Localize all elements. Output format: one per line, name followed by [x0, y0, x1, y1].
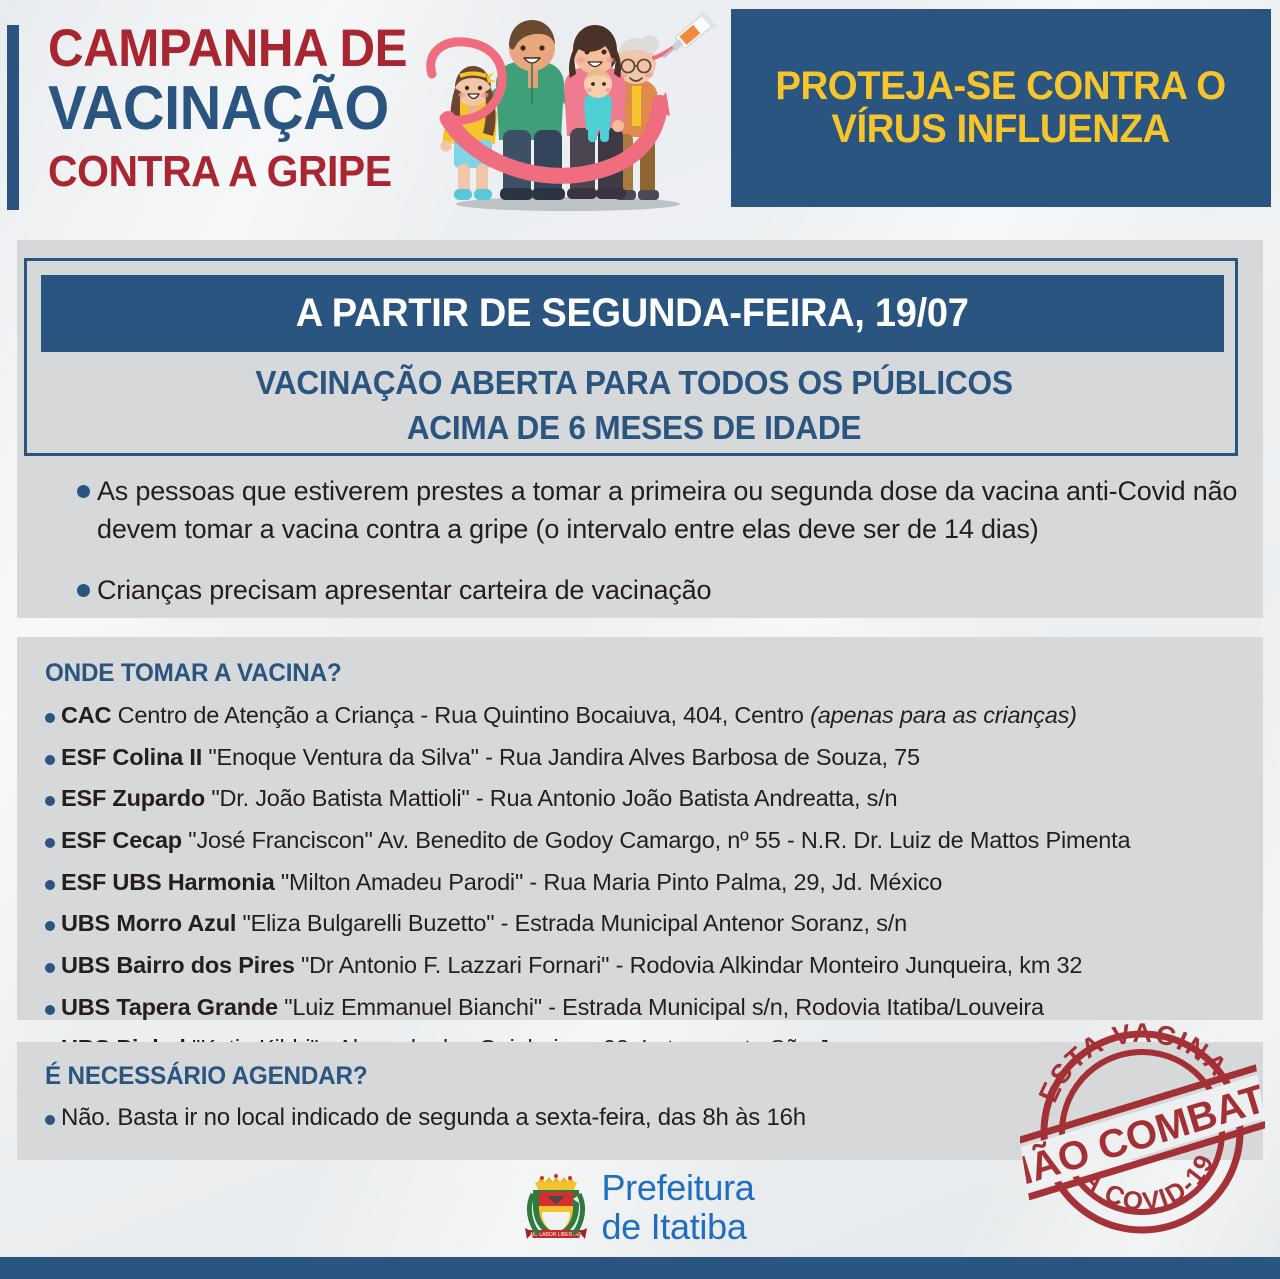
- itatiba-coat-of-arms-icon: MS LABOR LIBERTAS: [525, 1172, 587, 1244]
- list-item: Crianças precisam apresentar carteira de…: [77, 571, 1247, 609]
- location-name: ESF UBS Harmonia: [61, 869, 275, 895]
- scheduling-answer: Não. Basta ir no local indicado de segun…: [61, 1103, 806, 1133]
- bullet-dot-icon: [45, 921, 55, 931]
- bullet-dot-icon: [45, 755, 55, 765]
- list-item: CAC Centro de Atenção a Criança - Rua Qu…: [45, 701, 1235, 730]
- poster-root: CAMPANHA DE VACINAÇÃO CONTRA A GRIPE: [0, 0, 1280, 1279]
- poster-header: CAMPANHA DE VACINAÇÃO CONTRA A GRIPE: [0, 0, 1280, 228]
- locations-title: ONDE TOMAR A VACINA?: [45, 659, 1199, 688]
- bullet-dot-icon: [45, 1115, 55, 1125]
- location-detail: "Enoque Ventura da Silva" - Rua Jandira …: [202, 744, 920, 770]
- location-detail: Centro de Atenção a Criança - Rua Quinti…: [111, 702, 810, 728]
- location-text: UBS Morro Azul "Eliza Bulgarelli Buzetto…: [61, 909, 907, 938]
- header-accent-bar: [7, 25, 19, 210]
- date-subhead-line1: VACINAÇÃO ABERTA PARA TODOS OS PÚBLICOS: [51, 361, 1216, 406]
- location-detail: "Dr Antonio F. Lazzari Fornari" - Rodovi…: [295, 952, 1083, 978]
- protect-banner: PROTEJA-SE CONTRA O VÍRUS INFLUENZA: [731, 9, 1271, 207]
- list-item: ESF UBS Harmonia "Milton Amadeu Parodi" …: [45, 868, 1235, 897]
- bullet-dot-icon: [45, 838, 55, 848]
- date-panel: A PARTIR DE SEGUNDA-FEIRA, 19/07 VACINAÇ…: [17, 240, 1263, 618]
- list-item: As pessoas que estiverem prestes a tomar…: [77, 472, 1247, 549]
- locations-panel: ONDE TOMAR A VACINA? CAC Centro de Atenç…: [17, 637, 1263, 1020]
- location-name: ESF Zupardo: [61, 785, 205, 811]
- protect-banner-line1: PROTEJA-SE CONTRA O: [776, 65, 1226, 108]
- location-name: ESF Colina II: [61, 744, 202, 770]
- family-vaccination-illustration-icon: [418, 6, 726, 222]
- bullet-dot-icon: [45, 713, 55, 723]
- location-text: CAC Centro de Atenção a Criança - Rua Qu…: [61, 701, 1077, 730]
- location-name: UBS Morro Azul: [61, 910, 236, 936]
- location-text: UBS Bairro dos Pires "Dr Antonio F. Lazz…: [61, 951, 1082, 980]
- bullet-dot-icon: [77, 485, 90, 498]
- list-item: ESF Cecap "José Franciscon" Av. Benedito…: [45, 826, 1235, 855]
- list-item: UBS Morro Azul "Eliza Bulgarelli Buzetto…: [45, 909, 1235, 938]
- footer-bar: [0, 1257, 1280, 1279]
- protect-banner-line2: VÍRUS INFLUENZA: [776, 108, 1226, 151]
- location-detail: "Luiz Emmanuel Bianchi" - Estrada Munici…: [278, 994, 1044, 1020]
- scheduling-content: É NECESSÁRIO AGENDAR? Não. Basta ir no l…: [45, 1062, 806, 1133]
- location-detail: "Eliza Bulgarelli Buzetto" - Estrada Mun…: [236, 910, 907, 936]
- prefeitura-logo-text: Prefeitura de Itatiba: [601, 1169, 754, 1247]
- location-text: UBS Tapera Grande "Luiz Emmanuel Bianchi…: [61, 993, 1044, 1022]
- location-detail: "José Franciscon" Av. Benedito de Godoy …: [182, 827, 1130, 853]
- location-detail: "Milton Amadeu Parodi" - Rua Maria Pinto…: [275, 869, 943, 895]
- campaign-title-line2: VACINAÇÃO: [48, 78, 401, 140]
- list-item: ESF Zupardo "Dr. João Batista Mattioli" …: [45, 784, 1235, 813]
- list-item: UBS Bairro dos Pires "Dr Antonio F. Lazz…: [45, 951, 1235, 980]
- bullet-dot-icon: [77, 584, 90, 597]
- date-note-1: As pessoas que estiverem prestes a tomar…: [97, 472, 1247, 549]
- date-notes-list: As pessoas que estiverem prestes a tomar…: [77, 472, 1247, 609]
- campaign-title-block: CAMPANHA DE VACINAÇÃO CONTRA A GRIPE: [48, 22, 428, 194]
- prefeitura-logo-line2: de Itatiba: [601, 1208, 754, 1247]
- campaign-title-line1: CAMPANHA DE: [48, 22, 401, 75]
- date-framed-box: A PARTIR DE SEGUNDA-FEIRA, 19/07 VACINAÇ…: [24, 258, 1238, 456]
- location-text: ESF Zupardo "Dr. João Batista Mattioli" …: [61, 784, 897, 813]
- location-text: ESF Colina II "Enoque Ventura da Silva" …: [61, 743, 920, 772]
- prefeitura-logo-line1: Prefeitura: [601, 1169, 754, 1208]
- location-name: UBS Tapera Grande: [61, 994, 278, 1020]
- campaign-title-line3: CONTRA A GRIPE: [48, 150, 401, 194]
- date-headline: A PARTIR DE SEGUNDA-FEIRA, 19/07: [296, 291, 969, 336]
- location-text: ESF Cecap "José Franciscon" Av. Benedito…: [61, 826, 1130, 855]
- location-text: ESF UBS Harmonia "Milton Amadeu Parodi" …: [61, 868, 942, 897]
- bullet-dot-icon: [45, 1005, 55, 1015]
- location-name: ESF Cecap: [61, 827, 182, 853]
- date-headline-bar: A PARTIR DE SEGUNDA-FEIRA, 19/07: [41, 275, 1224, 352]
- date-subhead: VACINAÇÃO ABERTA PARA TODOS OS PÚBLICOS …: [51, 361, 1216, 450]
- bullet-dot-icon: [45, 963, 55, 973]
- location-note: (apenas para as crianças): [810, 702, 1077, 728]
- date-subhead-line2: ACIMA DE 6 MESES DE IDADE: [51, 406, 1216, 451]
- prefeitura-logo: MS LABOR LIBERTAS Prefeitura de Itatiba: [0, 1168, 1280, 1248]
- bullet-dot-icon: [45, 880, 55, 890]
- location-name: CAC: [61, 702, 111, 728]
- location-detail: "Dr. João Batista Mattioli" - Rua Antoni…: [205, 785, 897, 811]
- location-name: UBS Bairro dos Pires: [61, 952, 295, 978]
- list-item: ESF Colina II "Enoque Ventura da Silva" …: [45, 743, 1235, 772]
- list-item: Não. Basta ir no local indicado de segun…: [45, 1103, 806, 1133]
- date-note-2: Crianças precisam apresentar carteira de…: [97, 571, 711, 609]
- bullet-dot-icon: [45, 796, 55, 806]
- scheduling-title: É NECESSÁRIO AGENDAR?: [45, 1062, 783, 1091]
